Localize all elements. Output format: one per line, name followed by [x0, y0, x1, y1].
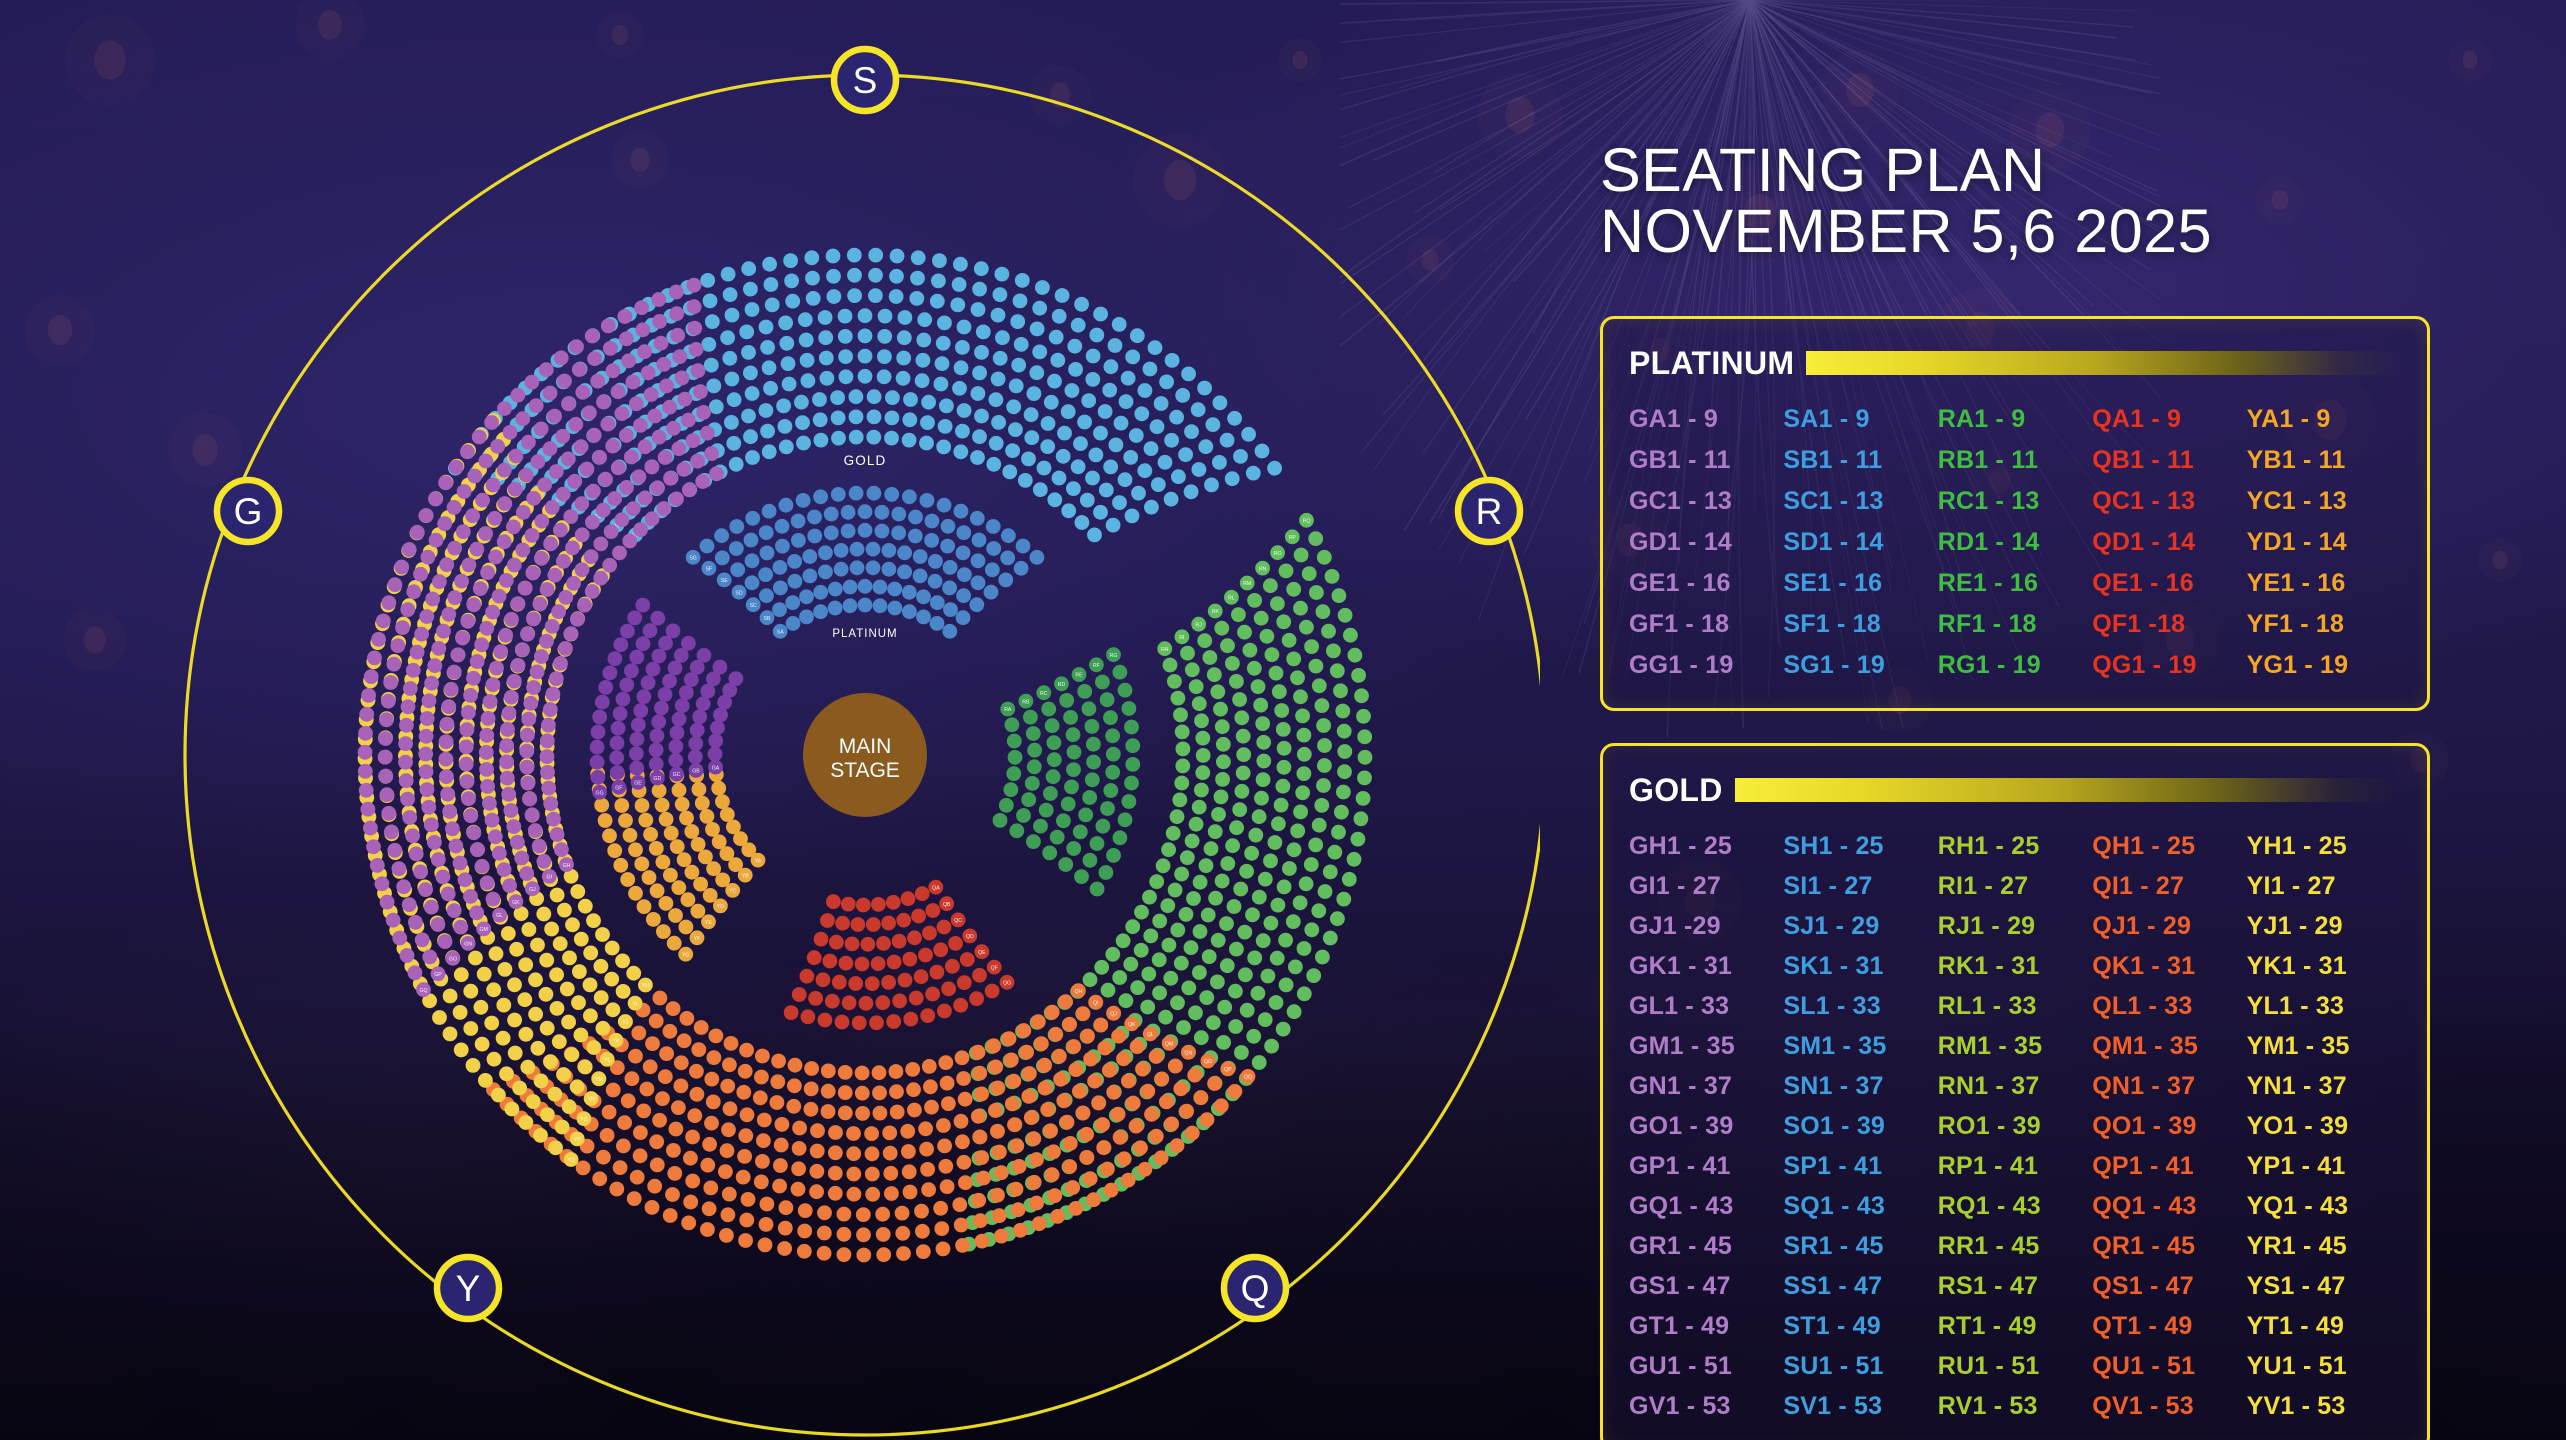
- seat-dot[interactable]: [875, 1207, 890, 1222]
- seat-dot[interactable]: [788, 1058, 803, 1073]
- seat-dot[interactable]: [1026, 1131, 1041, 1146]
- seat-dot[interactable]: [1198, 439, 1213, 454]
- seat-dot[interactable]: [745, 302, 760, 317]
- seat-dot[interactable]: [1040, 1102, 1055, 1117]
- seat-dot[interactable]: [679, 920, 694, 935]
- seat-dot[interactable]: [541, 781, 556, 796]
- seat-dot[interactable]: [480, 875, 495, 890]
- seat-dot[interactable]: [1286, 582, 1301, 597]
- seat-dot[interactable]: [613, 1160, 628, 1175]
- seat-dot[interactable]: [1316, 604, 1331, 619]
- seat-dot[interactable]: [738, 1064, 753, 1079]
- seat-dot[interactable]: [954, 360, 969, 375]
- seat-dot[interactable]: [499, 1066, 514, 1081]
- seat-dot[interactable]: [1138, 383, 1153, 398]
- seat-dot[interactable]: [553, 656, 568, 671]
- seat-dot[interactable]: [928, 554, 943, 569]
- seat-dot[interactable]: [936, 1242, 951, 1257]
- seat-dot[interactable]: [976, 325, 991, 340]
- seat-dot[interactable]: [776, 399, 791, 414]
- seat-dot[interactable]: [499, 755, 514, 770]
- seat-dot[interactable]: [618, 813, 633, 828]
- seat-dot[interactable]: [680, 1011, 695, 1026]
- seat-dot[interactable]: [470, 654, 485, 669]
- seat-dot[interactable]: [672, 783, 687, 798]
- seat-block-s-gold[interactable]: SHSISJSKSLSMSNSOSPSQ: [448, 248, 1282, 543]
- seat-dot[interactable]: [934, 377, 949, 392]
- seat-dot[interactable]: [463, 688, 478, 703]
- seat-dot[interactable]: [688, 750, 703, 765]
- seat-dot[interactable]: [985, 984, 1000, 999]
- seat-dot[interactable]: [454, 967, 469, 982]
- seat-dot[interactable]: [902, 489, 917, 504]
- seat-dot[interactable]: [419, 764, 434, 779]
- seat-dot[interactable]: [549, 671, 564, 686]
- seat-dot[interactable]: [1083, 853, 1098, 868]
- seat-dot[interactable]: [1026, 834, 1041, 849]
- seat-dot[interactable]: [1167, 674, 1182, 689]
- seat-dot[interactable]: [1247, 661, 1262, 676]
- seat-dot[interactable]: [986, 457, 1001, 472]
- seat-dot[interactable]: [1012, 1159, 1027, 1174]
- seat-dot[interactable]: [1033, 819, 1048, 834]
- seat-dot[interactable]: [1276, 722, 1291, 737]
- seat-dot[interactable]: [921, 1182, 936, 1197]
- seat-dot[interactable]: [1188, 1005, 1203, 1020]
- seat-dot[interactable]: [533, 597, 548, 612]
- seat-dot[interactable]: [724, 1036, 739, 1051]
- seat-dot[interactable]: [976, 1171, 991, 1186]
- seat-dot[interactable]: [831, 487, 846, 502]
- seat-dot[interactable]: [885, 390, 900, 405]
- seat-dot[interactable]: [838, 329, 853, 344]
- seat-dot[interactable]: [1356, 709, 1371, 724]
- seat-dot[interactable]: [722, 1187, 737, 1202]
- seat-dot[interactable]: [1052, 471, 1067, 486]
- seat-dot[interactable]: [671, 441, 686, 456]
- seat-dot[interactable]: [713, 708, 728, 723]
- seat-dot[interactable]: [990, 1124, 1005, 1139]
- seat-dot[interactable]: [1176, 742, 1191, 757]
- seat-dot[interactable]: [550, 888, 565, 903]
- seat-dot[interactable]: [557, 903, 572, 918]
- seat-dot[interactable]: [659, 896, 674, 911]
- seat-dot[interactable]: [1184, 484, 1199, 499]
- seat-dot[interactable]: [868, 288, 883, 303]
- seat-dot[interactable]: [596, 395, 611, 410]
- seat-dot[interactable]: [1357, 771, 1372, 786]
- seat-dot[interactable]: [675, 698, 690, 713]
- seat-dot[interactable]: [684, 824, 699, 839]
- seat-dot[interactable]: [1158, 1010, 1173, 1025]
- seat-dot[interactable]: [801, 1009, 816, 1024]
- seat-dot[interactable]: [1118, 472, 1133, 487]
- seat-dot[interactable]: [1243, 643, 1258, 658]
- seat-dot[interactable]: [828, 1145, 843, 1160]
- seat-dot[interactable]: [427, 835, 442, 850]
- seat-dot[interactable]: [847, 248, 862, 263]
- seat-dot[interactable]: [700, 273, 715, 288]
- seat-dot[interactable]: [739, 1043, 754, 1058]
- seat-dot[interactable]: [922, 926, 937, 941]
- seat-dot[interactable]: [704, 358, 719, 373]
- seat-dot[interactable]: [1179, 1104, 1194, 1119]
- seat-dot[interactable]: [1354, 688, 1369, 703]
- seat-dot[interactable]: [839, 369, 854, 384]
- seat-dot[interactable]: [778, 419, 793, 434]
- seat-dot[interactable]: [846, 1146, 861, 1161]
- seat-dot[interactable]: [902, 604, 917, 619]
- seat-dot[interactable]: [759, 588, 774, 603]
- seat-dot[interactable]: [1255, 444, 1270, 459]
- seat-dot[interactable]: [823, 954, 838, 969]
- seat-dot[interactable]: [988, 1060, 1003, 1075]
- seat-dot[interactable]: [390, 638, 405, 653]
- seat-dot[interactable]: [441, 887, 456, 902]
- seat-dot[interactable]: [723, 1101, 738, 1116]
- seat-dot[interactable]: [926, 903, 941, 918]
- seat-dot[interactable]: [655, 798, 670, 813]
- seat-dot[interactable]: [1330, 663, 1345, 678]
- seat-dot[interactable]: [358, 745, 373, 760]
- seat-dot[interactable]: [1263, 854, 1278, 869]
- seat-dot[interactable]: [1179, 907, 1194, 922]
- seat-dot[interactable]: [1308, 838, 1323, 853]
- seat-dot[interactable]: [781, 356, 796, 371]
- seat-dot[interactable]: [772, 1179, 787, 1194]
- seat-dot[interactable]: [743, 366, 758, 381]
- seat-dot[interactable]: [704, 446, 719, 461]
- seat-dot[interactable]: [1117, 1151, 1132, 1166]
- seat-dot[interactable]: [1171, 691, 1186, 706]
- seat-dot[interactable]: [477, 967, 492, 982]
- seat-dot[interactable]: [975, 1234, 990, 1249]
- seat-dot[interactable]: [773, 1158, 788, 1173]
- seat-dot[interactable]: [528, 1007, 543, 1022]
- seat-dot[interactable]: [444, 682, 459, 697]
- seat-dot[interactable]: [582, 405, 597, 420]
- seat-dot[interactable]: [399, 773, 414, 788]
- seat-dot[interactable]: [1021, 792, 1036, 807]
- seat-dot[interactable]: [439, 557, 454, 572]
- seat-dot[interactable]: [1351, 832, 1366, 847]
- seat-dot[interactable]: [932, 253, 947, 268]
- seat-dot[interactable]: [558, 590, 573, 605]
- seat-dot[interactable]: [441, 607, 456, 622]
- seat-dot[interactable]: [1038, 1081, 1053, 1096]
- seat-dot[interactable]: [532, 839, 547, 854]
- seat-dot[interactable]: [663, 868, 678, 883]
- seat-dot[interactable]: [1174, 776, 1189, 791]
- seat-dot[interactable]: [757, 1113, 772, 1128]
- seat-dot[interactable]: [856, 1248, 871, 1263]
- seat-dot[interactable]: [906, 1082, 921, 1097]
- seat-dot[interactable]: [1023, 710, 1038, 725]
- seat-dot[interactable]: [1100, 692, 1115, 707]
- seat-dot[interactable]: [970, 450, 985, 465]
- seat-dot[interactable]: [1173, 1081, 1188, 1096]
- seat-dot[interactable]: [626, 966, 641, 981]
- seat-dot[interactable]: [695, 474, 710, 489]
- seat-dot[interactable]: [358, 764, 373, 779]
- seat-dot[interactable]: [736, 1085, 751, 1100]
- seat-dot[interactable]: [650, 883, 665, 898]
- seat-dot[interactable]: [838, 1106, 853, 1121]
- seat-dot[interactable]: [1006, 1074, 1021, 1089]
- seat-dot[interactable]: [808, 991, 823, 1006]
- seat-dot[interactable]: [519, 744, 534, 759]
- seat-dot[interactable]: [1072, 1084, 1087, 1099]
- seat-dot[interactable]: [775, 1117, 790, 1132]
- seat-dot[interactable]: [1164, 433, 1179, 448]
- seat-dot[interactable]: [482, 796, 497, 811]
- seat-dot[interactable]: [953, 998, 968, 1013]
- seat-dot[interactable]: [708, 733, 723, 748]
- seat-dot[interactable]: [1199, 990, 1214, 1005]
- seat-dot[interactable]: [565, 1047, 580, 1062]
- seat-dot[interactable]: [415, 932, 430, 947]
- seat-dot[interactable]: [571, 995, 586, 1010]
- seat-dot[interactable]: [810, 1144, 825, 1159]
- seat-dot[interactable]: [1204, 478, 1219, 493]
- seat-dot[interactable]: [986, 541, 1001, 556]
- seat-dot[interactable]: [1279, 978, 1294, 993]
- seat-dot[interactable]: [443, 989, 458, 1004]
- seat-dot[interactable]: [778, 316, 793, 331]
- seat-dot[interactable]: [849, 389, 864, 404]
- seat-dot[interactable]: [858, 504, 873, 519]
- seat-dot[interactable]: [705, 822, 720, 837]
- seat-dot[interactable]: [856, 1207, 871, 1222]
- seat-dot[interactable]: [534, 422, 549, 437]
- seat-dot[interactable]: [640, 1082, 655, 1097]
- seat-dot[interactable]: [901, 891, 916, 906]
- seat-dot[interactable]: [957, 320, 972, 335]
- seat-dot[interactable]: [1131, 486, 1146, 501]
- seat-dot[interactable]: [1009, 1182, 1024, 1197]
- seat-dot[interactable]: [821, 1064, 836, 1079]
- seat-dot[interactable]: [799, 333, 814, 348]
- seat-dot[interactable]: [911, 250, 926, 265]
- seat-dot[interactable]: [1102, 1063, 1117, 1078]
- seat-dot[interactable]: [638, 813, 653, 828]
- seat-dot[interactable]: [486, 677, 501, 692]
- seat-dot[interactable]: [940, 1179, 955, 1194]
- seat-dot[interactable]: [507, 1013, 522, 1028]
- seat-dot[interactable]: [999, 798, 1014, 813]
- seat-dot[interactable]: [943, 602, 958, 617]
- seat-dot[interactable]: [884, 431, 899, 446]
- seat-dot[interactable]: [889, 289, 904, 304]
- seat-dot[interactable]: [720, 1079, 735, 1094]
- seat-dot[interactable]: [1172, 793, 1187, 808]
- seat-dot[interactable]: [1024, 430, 1039, 445]
- seat-dot[interactable]: [807, 529, 822, 544]
- seat-dot[interactable]: [1065, 383, 1080, 398]
- seat-dot[interactable]: [613, 706, 628, 721]
- seat-dot[interactable]: [1073, 825, 1088, 840]
- seat-dot[interactable]: [1081, 393, 1096, 408]
- seat-dot[interactable]: [395, 620, 410, 635]
- seat-dot[interactable]: [693, 877, 708, 892]
- seat-dot[interactable]: [499, 573, 514, 588]
- seat-dot[interactable]: [615, 512, 630, 527]
- seat-dot[interactable]: [743, 429, 758, 444]
- seat-dot[interactable]: [593, 537, 608, 552]
- seat-dot[interactable]: [1278, 933, 1293, 948]
- seat-dot[interactable]: [698, 850, 713, 865]
- seat-dot[interactable]: [425, 592, 440, 607]
- seat-dot[interactable]: [361, 802, 376, 817]
- seat-dot[interactable]: [551, 604, 566, 619]
- seat-dot[interactable]: [621, 1093, 636, 1108]
- seat-dot[interactable]: [956, 588, 971, 603]
- seat-dot[interactable]: [1228, 1019, 1243, 1034]
- seat-dot[interactable]: [1055, 288, 1070, 303]
- seat-dot[interactable]: [952, 1197, 967, 1212]
- seat-dot[interactable]: [956, 546, 971, 561]
- seat-dot[interactable]: [1060, 1115, 1075, 1130]
- seat-dot[interactable]: [936, 440, 951, 455]
- seat-dot[interactable]: [1233, 882, 1248, 897]
- seat-dot[interactable]: [555, 1120, 570, 1135]
- seat-dot[interactable]: [690, 723, 705, 738]
- seat-dot[interactable]: [938, 1055, 953, 1070]
- seat-dot[interactable]: [570, 884, 585, 899]
- seat-dot[interactable]: [413, 865, 428, 880]
- seat-dot[interactable]: [704, 1116, 719, 1131]
- seat-dot[interactable]: [807, 950, 822, 965]
- seat-dot[interactable]: [1160, 898, 1175, 913]
- seat-dot[interactable]: [1170, 809, 1185, 824]
- seat-dot[interactable]: [1057, 426, 1072, 441]
- seat-dot[interactable]: [770, 1095, 785, 1110]
- seat-dot[interactable]: [1297, 986, 1312, 1001]
- seat-dot[interactable]: [689, 1064, 704, 1079]
- seat-dot[interactable]: [1066, 841, 1081, 856]
- seat-dot[interactable]: [1123, 957, 1138, 972]
- seat-dot[interactable]: [1164, 492, 1179, 507]
- seat-dot[interactable]: [814, 433, 829, 448]
- seat-dot[interactable]: [858, 349, 873, 364]
- seat-dot[interactable]: [635, 598, 650, 613]
- seat-dot[interactable]: [1109, 438, 1124, 453]
- seat-dot[interactable]: [475, 1037, 490, 1052]
- seat-dot[interactable]: [460, 614, 475, 629]
- seat-dot[interactable]: [635, 798, 650, 813]
- seat-dot[interactable]: [484, 1016, 499, 1031]
- seat-dot[interactable]: [1315, 950, 1330, 965]
- seat-dot[interactable]: [668, 661, 683, 676]
- seat-dot[interactable]: [505, 1102, 520, 1117]
- seat-dot[interactable]: [607, 843, 622, 858]
- seat-dot[interactable]: [873, 580, 888, 595]
- seat-dot[interactable]: [609, 750, 624, 765]
- seat-dot[interactable]: [620, 872, 635, 887]
- seat-dot[interactable]: [529, 398, 544, 413]
- seat-dot[interactable]: [596, 1021, 611, 1036]
- seat-dot[interactable]: [1279, 564, 1294, 579]
- seat-dot[interactable]: [915, 886, 930, 901]
- seat-dot[interactable]: [919, 436, 934, 451]
- seat-dot[interactable]: [474, 637, 489, 652]
- seat-dot[interactable]: [754, 1070, 769, 1085]
- seat-dot[interactable]: [528, 972, 543, 987]
- seat-dot[interactable]: [650, 611, 665, 626]
- seat-dot[interactable]: [1144, 1107, 1159, 1122]
- seat-dot[interactable]: [488, 550, 503, 565]
- seat-dot[interactable]: [708, 747, 723, 762]
- section-badge-g[interactable]: G: [217, 480, 279, 542]
- seat-dot[interactable]: [1016, 539, 1031, 554]
- seat-dot[interactable]: [885, 411, 900, 426]
- seat-dot[interactable]: [687, 321, 702, 336]
- seat-dot[interactable]: [651, 292, 666, 307]
- seat-dot[interactable]: [939, 399, 954, 414]
- seat-dot[interactable]: [1018, 473, 1033, 488]
- seat-dot[interactable]: [619, 428, 634, 443]
- seat-dot[interactable]: [972, 1066, 987, 1081]
- seat-dot[interactable]: [1066, 481, 1081, 496]
- seat-dot[interactable]: [956, 525, 971, 540]
- seat-dot[interactable]: [855, 1106, 870, 1121]
- seat-dot[interactable]: [543, 537, 558, 552]
- seat-dot[interactable]: [884, 487, 899, 502]
- seat-dot[interactable]: [1116, 1051, 1131, 1066]
- seat-dot[interactable]: [1276, 614, 1291, 629]
- seat-dot[interactable]: [1232, 802, 1247, 817]
- seat-dot[interactable]: [1254, 791, 1269, 806]
- seat-dot[interactable]: [829, 935, 844, 950]
- seat-dot[interactable]: [1256, 754, 1271, 769]
- seat-dot[interactable]: [1083, 972, 1098, 987]
- seat-dot[interactable]: [1314, 798, 1329, 813]
- seat-dot[interactable]: [651, 714, 666, 729]
- seat-dot[interactable]: [1175, 725, 1190, 740]
- seat-dot[interactable]: [1232, 692, 1247, 707]
- seat-dot[interactable]: [594, 798, 609, 813]
- seat-dot[interactable]: [487, 1052, 502, 1067]
- seat-dot[interactable]: [773, 560, 788, 575]
- seating-map[interactable]: SHSISJSKSLSMSNSOSPSQSASBSCSDSESFSGRHRIRJ…: [0, 0, 1540, 1440]
- seat-dot[interactable]: [1270, 951, 1285, 966]
- seat-dot[interactable]: [646, 662, 661, 677]
- seat-dot[interactable]: [678, 392, 693, 407]
- seat-dot[interactable]: [882, 1126, 897, 1141]
- seat-dot[interactable]: [762, 360, 777, 375]
- seat-dot[interactable]: [1080, 493, 1095, 508]
- seat-dot[interactable]: [1086, 349, 1101, 364]
- seat-dot[interactable]: [519, 1027, 534, 1042]
- seat-dot[interactable]: [1143, 362, 1158, 377]
- seat-dot[interactable]: [1208, 824, 1223, 839]
- seat-dot[interactable]: [704, 1072, 719, 1087]
- seat-dot[interactable]: [646, 912, 661, 927]
- seat-dot[interactable]: [820, 913, 835, 928]
- seat-dot[interactable]: [380, 895, 395, 910]
- seat-dot[interactable]: [537, 477, 552, 492]
- seat-dot[interactable]: [810, 1164, 825, 1179]
- seat-dot[interactable]: [851, 917, 866, 932]
- seat-dot[interactable]: [1045, 718, 1060, 733]
- seat-dot[interactable]: [1274, 798, 1289, 813]
- seat-dot[interactable]: [566, 576, 581, 591]
- seat-dot[interactable]: [1047, 1188, 1062, 1203]
- seat-dot[interactable]: [828, 1166, 843, 1181]
- seat-dot[interactable]: [526, 612, 541, 627]
- seat-dot[interactable]: [1002, 1031, 1017, 1046]
- seat-dot[interactable]: [871, 956, 886, 971]
